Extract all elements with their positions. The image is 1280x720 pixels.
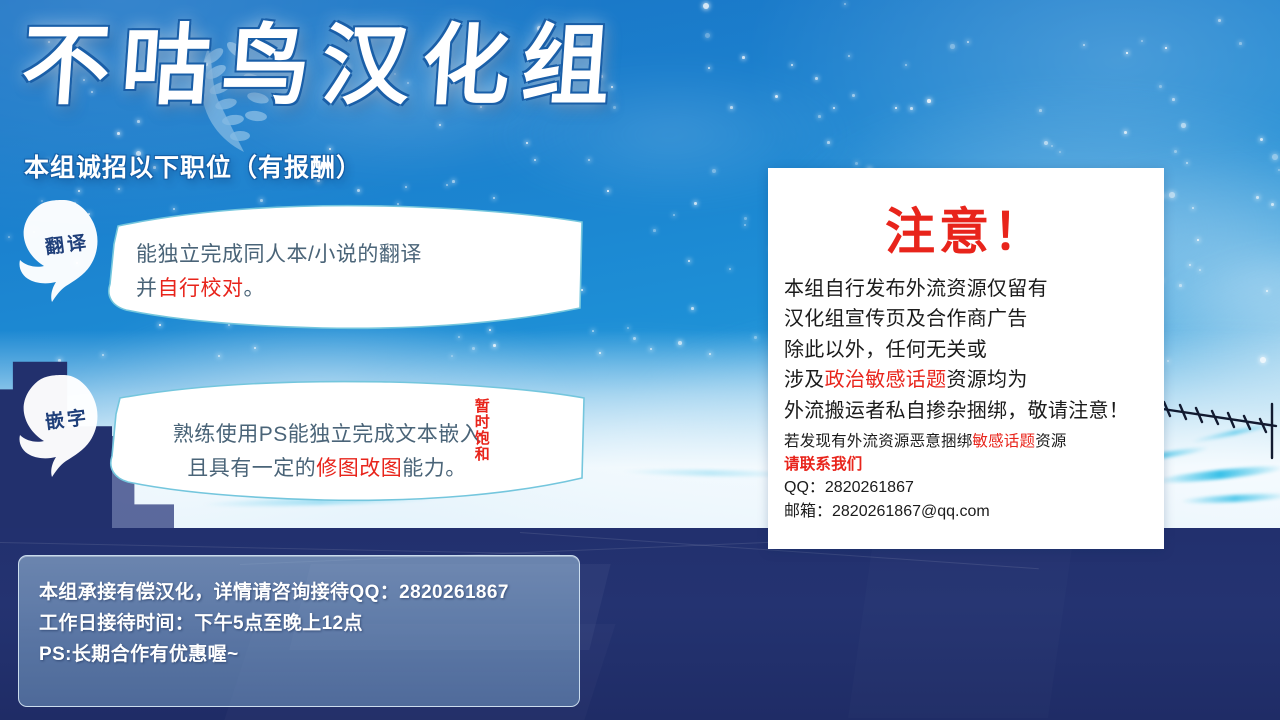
banner-text: 熟练使用PS能独立完成文本嵌入 且具有一定的修图改图能力。 (132, 418, 522, 486)
footer-text: 本组承接有偿汉化，详情请咨询接待QQ：2820261867 工作日接待时间：下午… (19, 556, 579, 670)
banner-text: 能独立完成同人本/小说的翻译 并自行校对。 (136, 238, 592, 306)
notice-line: 汉化组宣传页及合作商广告 (784, 304, 1148, 334)
recruit-banner-typeset: 熟练使用PS能独立完成文本嵌入 且具有一定的修图改图能力。 (104, 378, 592, 506)
footer-line-1: 本组承接有偿汉化，详情请咨询接待QQ：2820261867 (39, 578, 579, 609)
contact-qq: QQ：2820261867 (784, 476, 1148, 500)
notice-line: 外流搬运者私自掺杂捆绑，敬请注意！ (784, 396, 1148, 426)
footer-info-bar: 本组承接有偿汉化，详情请咨询接待QQ：2820261867 工作日接待时间：下午… (18, 555, 580, 707)
status-badge-saturated: 暂时饱和 (472, 398, 490, 462)
notice-line: 本组自行发布外流资源仅留有 (784, 274, 1148, 304)
footer-line-2: 工作日接待时间：下午5点至晚上12点 (39, 609, 579, 640)
footer-line-3: PS:长期合作有优惠喔~ (39, 640, 579, 671)
contact-us-label: 请联系我们 (784, 454, 1148, 477)
poster-canvas: 不咕鸟汉化组 本组诚招以下职位（有报酬） 翻译 能独立完成同人本/小说的翻译 并… (0, 0, 1280, 720)
recruit-banner-translate: 能独立完成同人本/小说的翻译 并自行校对。 (104, 200, 592, 338)
page-title: 不咕鸟汉化组 (18, 14, 625, 118)
notice-panel: 注意！ 本组自行发布外流资源仅留有 汉化组宣传页及合作商广告 除此以外，任何无关… (768, 168, 1164, 549)
tv-antenna-icon (1150, 400, 1280, 460)
notice-heading: 注意！ (768, 192, 1164, 264)
notice-line: 涉及政治敏感话题资源均为 (784, 365, 1148, 395)
notice-subline: 若发现有外流资源恶意捆绑敏感话题资源 (784, 431, 1148, 454)
contact-email: 邮箱：2820261867@qq.com (784, 500, 1148, 524)
subtitle: 本组诚招以下职位（有报酬） (24, 148, 362, 184)
notice-line: 除此以外，任何无关或 (784, 335, 1148, 365)
title-block: 不咕鸟汉化组 (22, 14, 622, 118)
notice-body: 本组自行发布外流资源仅留有 汉化组宣传页及合作商广告 除此以外，任何无关或 涉及… (768, 274, 1164, 524)
